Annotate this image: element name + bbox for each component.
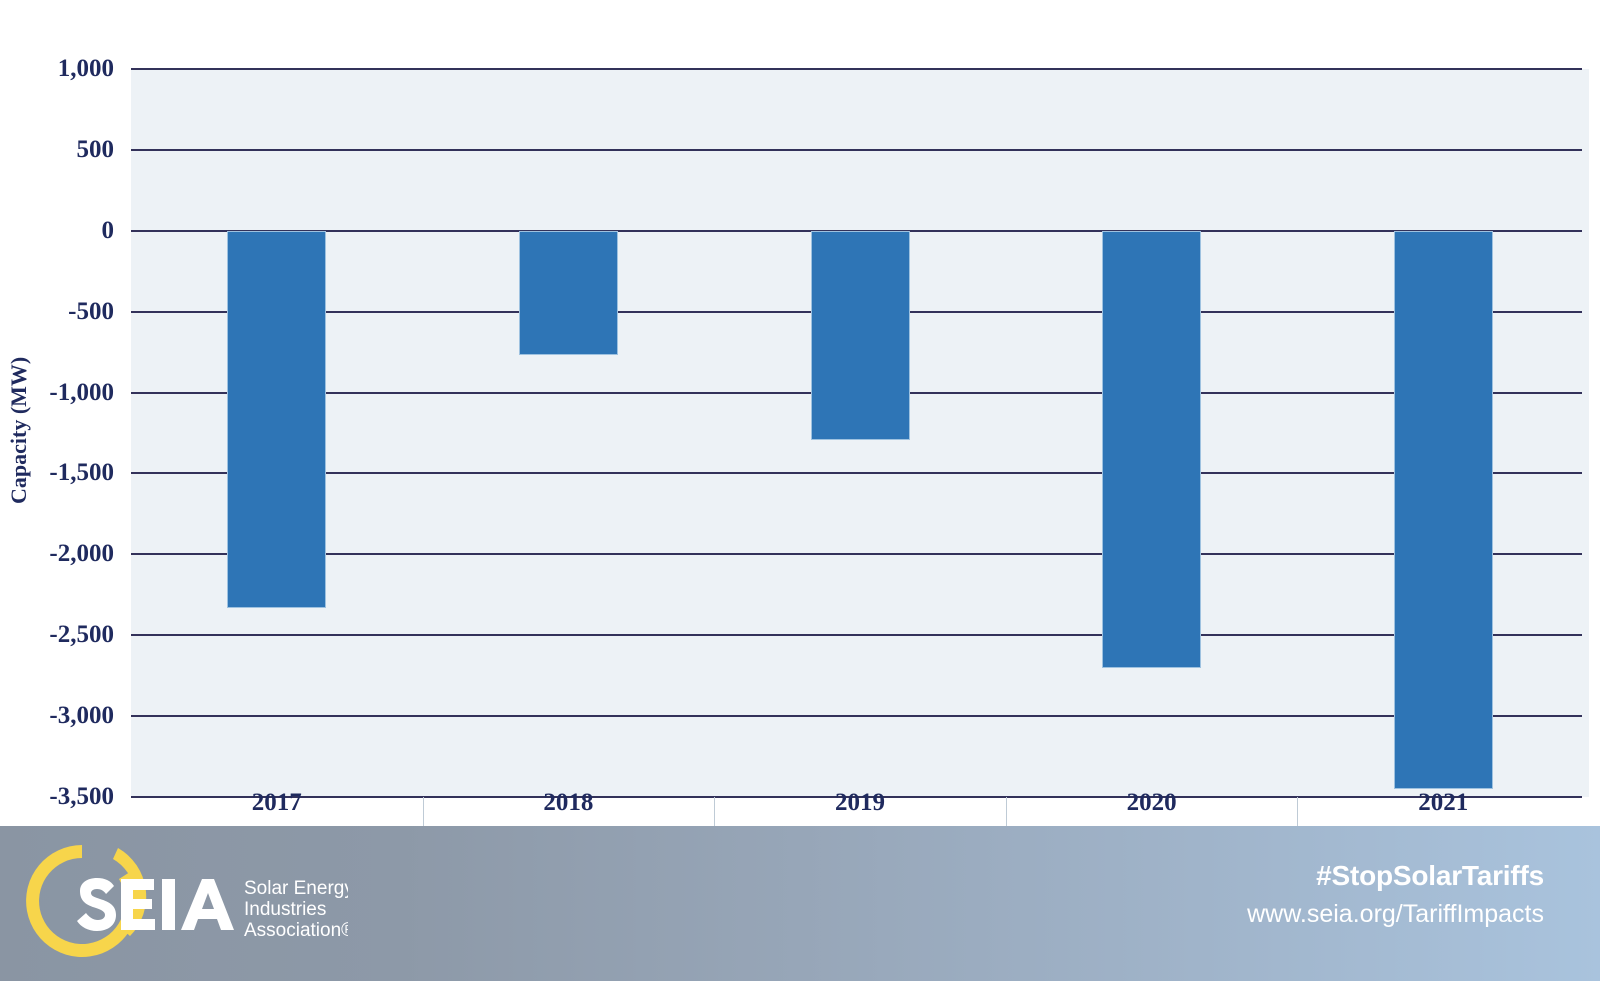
y-tick-label: 1,000 [58,55,114,83]
x-tick-label-2018: 2018 [423,780,715,826]
y-tick-label: -1,000 [49,379,114,407]
logo-line-2: Industries [244,899,326,920]
footer-banner: Solar Energy Industries Association® #St… [0,826,1600,981]
bars-layer [131,69,1589,797]
seia-wordmark [77,878,234,931]
seia-logo: Solar Energy Industries Association® [18,836,348,971]
y-tick-label: -500 [68,298,114,326]
y-tick-label: -2,000 [49,540,114,568]
hashtag-text: #StopSolarTariffs [1247,858,1544,894]
x-tick-label-2017: 2017 [131,780,423,826]
y-axis-tick-labels: 1,0005000-500-1,000-1,500-2,000-2,500-3,… [36,0,122,826]
y-tick-label: -2,500 [49,621,114,649]
logo-line-1: Solar Energy [244,878,348,899]
chart-area: Capacity (MW) 1,0005000-500-1,000-1,500-… [0,0,1600,826]
bar-2019[interactable] [811,231,910,441]
bar-2021[interactable] [1394,231,1493,789]
logo-line-3: Association® [244,920,348,941]
x-tick-label-2020: 2020 [1006,780,1298,826]
y-axis-title: Capacity (MW) [2,320,36,540]
x-tick-label-2019: 2019 [714,780,1006,826]
bar-2018[interactable] [519,231,618,356]
footer-text-block: #StopSolarTariffs www.seia.org/TariffImp… [1247,858,1544,931]
y-tick-label: 500 [77,136,115,164]
footer-url-link[interactable]: www.seia.org/TariffImpacts [1247,897,1544,931]
x-tick-label-2021: 2021 [1297,780,1589,826]
x-axis-tick-labels: 20172018201920202021 [131,780,1589,826]
y-tick-label: -3,000 [49,702,114,730]
y-tick-label: -3,500 [49,783,114,811]
bar-2020[interactable] [1102,231,1201,669]
y-tick-label: -1,500 [49,459,114,487]
bar-2017[interactable] [227,231,326,608]
y-tick-label: 0 [102,217,115,245]
